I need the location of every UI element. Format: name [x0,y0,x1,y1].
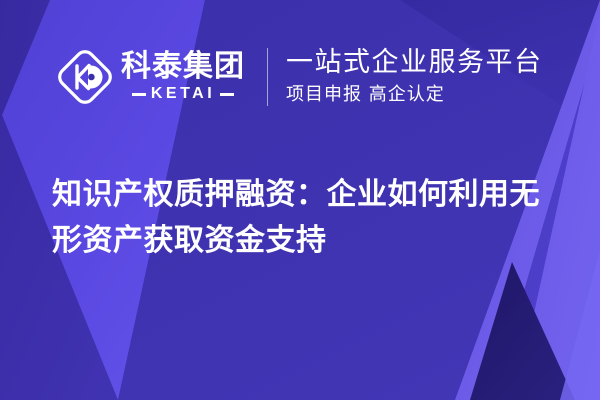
brand-name-cn: 科泰集团 [121,52,245,83]
promo-banner: 科泰集团 KETAI 一站式企业服务平台 项目申报 高企认定 知识产权质押融资：… [0,0,600,400]
header-divider [267,48,268,106]
slogan-primary: 一站式企业服务平台 [286,47,543,79]
brand-name-en: KETAI [151,86,215,102]
banner-title: 知识产权质押融资：企业如何利用无形资产获取资金支持 [52,172,560,263]
wordmark-rule-left [132,93,146,96]
slogan-secondary: 项目申报 高企认定 [286,83,543,106]
header-slogan: 一站式企业服务平台 项目申报 高企认定 [286,47,543,106]
wordmark-rule-right [220,93,234,96]
brand-name-en-row: KETAI [132,86,234,102]
banner-header: 科泰集团 KETAI 一站式企业服务平台 项目申报 高企认定 [58,44,543,110]
brand-wordmark: 科泰集团 KETAI [121,52,245,103]
ketai-kd-monogram-logo-icon [58,50,112,104]
brand-logo[interactable]: 科泰集团 KETAI [58,50,245,104]
